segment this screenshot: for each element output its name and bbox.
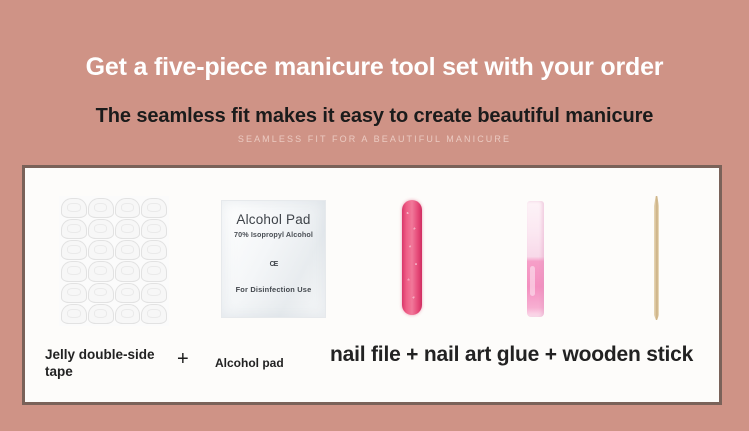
product-label-row: Jelly double-side tape + Alcohol pad nai… xyxy=(25,343,719,405)
packet-ce-mark: CE xyxy=(222,261,325,268)
tape-tab xyxy=(141,240,167,260)
tape-sheet-icon xyxy=(59,196,169,326)
tape-tab xyxy=(115,240,141,260)
tape-tab xyxy=(141,283,167,303)
product-slot-jelly-tape xyxy=(33,168,193,343)
product-card: Alcohol Pad 70% Isopropyl Alcohol CE For… xyxy=(22,165,722,405)
tape-tab xyxy=(115,219,141,239)
tape-tab xyxy=(88,198,114,218)
packet-use-text: For Disinfection Use xyxy=(222,285,325,294)
wooden-stick-icon xyxy=(654,196,659,320)
tape-tab xyxy=(61,219,87,239)
tape-tab xyxy=(61,240,87,260)
product-slot-nail-art-glue xyxy=(475,168,605,343)
tape-tab xyxy=(61,304,87,324)
tape-tab xyxy=(115,261,141,281)
glue-bottle-icon xyxy=(527,201,544,317)
promo-banner: Get a five-piece manicure tool set with … xyxy=(0,0,749,431)
tape-tab xyxy=(61,198,87,218)
tape-tab xyxy=(141,219,167,239)
product-image-row: Alcohol Pad 70% Isopropyl Alcohol CE For… xyxy=(25,168,719,343)
tape-tab xyxy=(61,261,87,281)
tape-tab xyxy=(115,304,141,324)
packet-title: Alcohol Pad xyxy=(222,212,325,227)
tape-tab xyxy=(115,283,141,303)
separator-plus: + xyxy=(177,351,189,368)
product-slot-nail-file xyxy=(355,168,485,343)
tape-tab xyxy=(141,198,167,218)
tape-tab xyxy=(88,304,114,324)
packet-subtitle: 70% Isopropyl Alcohol xyxy=(222,230,325,239)
label-remaining-tools: nail file + nail art glue + wooden stick xyxy=(330,346,720,363)
tape-tab xyxy=(88,283,114,303)
tape-tab xyxy=(141,261,167,281)
tape-tab xyxy=(88,261,114,281)
tape-tab xyxy=(88,219,114,239)
tape-tab xyxy=(61,283,87,303)
product-slot-alcohol-pad: Alcohol Pad 70% Isopropyl Alcohol CE For… xyxy=(201,168,351,343)
tape-tab xyxy=(88,240,114,260)
headline: Get a five-piece manicure tool set with … xyxy=(0,52,749,82)
microline-caption: SEAMLESS FIT FOR A BEAUTIFUL MANICURE xyxy=(0,133,749,145)
nail-file-icon xyxy=(402,200,422,315)
label-jelly-tape: Jelly double-side tape xyxy=(45,346,180,380)
tape-tab xyxy=(115,198,141,218)
subheadline: The seamless fit makes it easy to create… xyxy=(0,104,749,128)
product-card-inner: Alcohol Pad 70% Isopropyl Alcohol CE For… xyxy=(25,168,719,402)
product-slot-wooden-stick xyxy=(600,168,720,343)
tape-tab xyxy=(141,304,167,324)
alcohol-packet-icon: Alcohol Pad 70% Isopropyl Alcohol CE For… xyxy=(221,200,326,318)
